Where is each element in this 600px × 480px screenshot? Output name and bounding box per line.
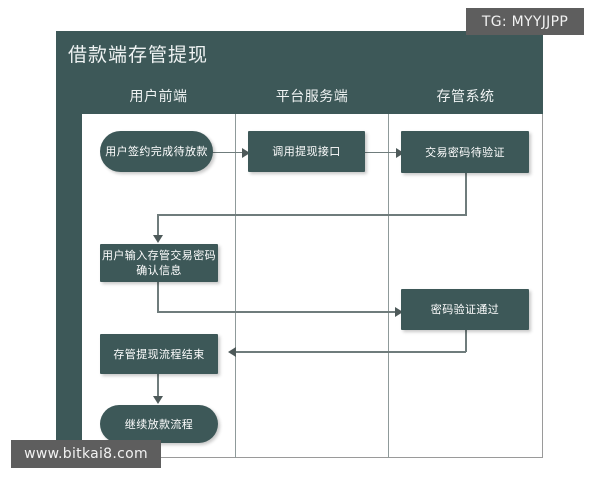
node-transaction-password-pending[interactable]: 交易密码待验证: [401, 131, 529, 173]
lane-divider-1: [235, 114, 236, 458]
edge-n3-n4-seg1: [465, 173, 467, 215]
node-call-withdraw-api[interactable]: 调用提现接口: [248, 131, 365, 172]
edge-n6-n7-arrow: [153, 396, 163, 404]
node-password-verified[interactable]: 密码验证通过: [401, 289, 529, 330]
diagram-title: 借款端存管提现: [68, 40, 208, 67]
node-user-enter-password-confirm-line2: 确认信息: [136, 263, 182, 278]
lane-divider-2: [388, 114, 389, 458]
node-user-enter-password-confirm-line1: 用户输入存管交易密码: [102, 248, 216, 263]
lane-title-custody-system: 存管系统: [389, 86, 542, 106]
edge-n5-n6-arrow: [228, 347, 236, 357]
edge-n3-n4-arrow: [153, 235, 163, 243]
edge-n1-n2-line: [211, 152, 244, 154]
node-user-enter-password-confirm[interactable]: 用户输入存管交易密码 确认信息: [100, 244, 218, 282]
node-continue-loan-flow[interactable]: 继续放款流程: [100, 405, 218, 443]
edge-n5-n6-seg1: [465, 330, 467, 352]
node-custody-withdraw-flow-end[interactable]: 存管提现流程结束: [100, 334, 218, 374]
node-user-signed-pending-loan[interactable]: 用户签约完成待放款: [100, 131, 213, 172]
edge-n5-n6-seg2: [234, 351, 466, 353]
lane-title-platform-server: 平台服务端: [236, 86, 388, 106]
watermark-telegram: TG: MYYJJPP: [466, 8, 584, 35]
edge-n4-n5-seg2: [157, 311, 397, 313]
watermark-website: www.bitkai8.com: [11, 440, 161, 468]
edge-n2-n3-line: [364, 152, 398, 154]
lane-title-user-frontend: 用户前端: [82, 86, 235, 106]
left-edge-strip: [56, 79, 82, 458]
flowchart-diagram: 借款端存管提现 用户前端 平台服务端 存管系统 用户签约完成待放款 调用提现接口…: [56, 31, 543, 458]
edge-n3-n4-seg2: [157, 214, 467, 216]
edge-n4-n5-seg1: [157, 282, 159, 312]
